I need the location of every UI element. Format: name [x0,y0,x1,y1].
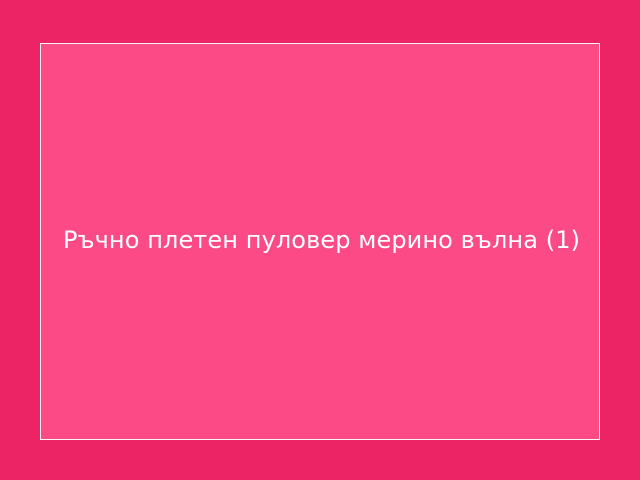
image-placeholder-card: Ръчно плетен пуловер мерино вълна (1) [40,43,600,440]
screen-background: Ръчно плетен пуловер мерино вълна (1) [0,0,640,480]
caption-row: Ръчно плетен пуловер мерино вълна (1) [41,225,599,255]
placeholder-caption-label: Ръчно плетен пуловер мерино вълна (1) [63,225,579,255]
